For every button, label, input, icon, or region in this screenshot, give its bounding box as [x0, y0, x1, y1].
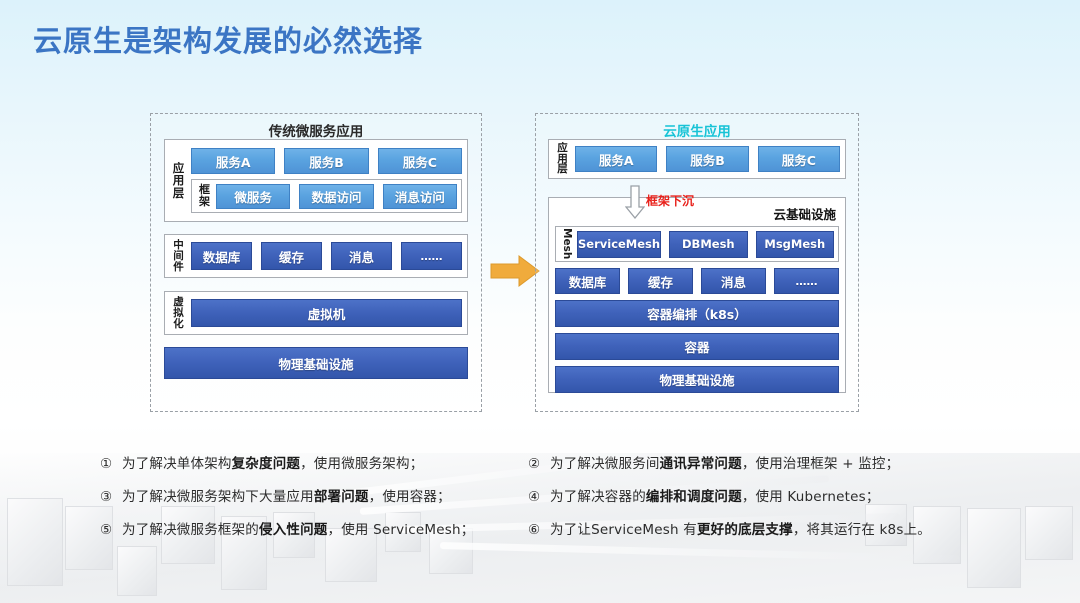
left-panel-title: 传统微服务应用 [151, 120, 481, 140]
bullet-column-right: ② 为了解决微服务间通讯异常问题，使用治理框架 + 监控； ④ 为了解决容器的编… [528, 452, 998, 551]
list-item: ③ 为了解决微服务架构下大量应用部署问题，使用容器； [100, 485, 530, 505]
left-app-layer-label: 应 用 层 [170, 162, 187, 200]
framework-sink-arrow [625, 185, 645, 219]
left-framework-message-access[interactable]: 消息访问 [383, 184, 457, 209]
bullet-text: 为了解决微服务间通讯异常问题，使用治理框架 + 监控； [550, 452, 899, 472]
msg-mesh[interactable]: MsgMesh [756, 231, 834, 258]
bullet-text: 为了解决微服务框架的侵入性问题，使用 ServiceMesh； [122, 518, 474, 538]
down-arrow-icon [625, 185, 645, 219]
left-physical-infrastructure[interactable]: 物理基础设施 [164, 347, 468, 379]
left-framework-microservice[interactable]: 微服务 [216, 184, 290, 209]
right-middleware-message[interactable]: 消息 [701, 268, 766, 294]
right-app-layer-label: 应用层 [554, 143, 571, 175]
bullet-text: 为了解决单体架构复杂度问题，使用微服务架构； [122, 452, 423, 472]
left-middleware-cache[interactable]: 缓存 [261, 242, 322, 270]
left-middleware-label: 中间件 [170, 240, 187, 273]
bullet-number: ④ [528, 489, 550, 505]
bullet-number: ③ [100, 489, 122, 505]
bullet-text: 为了解决微服务架构下大量应用部署问题，使用容器； [122, 485, 451, 505]
right-service-b[interactable]: 服务B [666, 146, 748, 172]
bullet-number: ⑥ [528, 522, 550, 538]
transition-arrow [489, 254, 541, 288]
left-virtual-machine[interactable]: 虚拟机 [191, 299, 462, 327]
right-arrow-icon [489, 254, 541, 288]
bullet-column-left: ① 为了解决单体架构复杂度问题，使用微服务架构； ③ 为了解决微服务架构下大量应… [100, 452, 530, 551]
left-virtualization-label: 虚拟化 [170, 297, 187, 330]
right-panel-title: 云原生应用 [536, 120, 858, 140]
service-mesh[interactable]: ServiceMesh [577, 231, 661, 258]
left-service-b[interactable]: 服务B [284, 148, 368, 174]
bullet-number: ⑤ [100, 522, 122, 538]
right-middleware-database[interactable]: 数据库 [555, 268, 620, 294]
mesh-label: Mesh [560, 228, 574, 259]
left-app-layer-group: 应 用 层 服务A 服务B 服务C 框架 微服务 数据访问 消息访问 [164, 139, 468, 222]
container-orchestration[interactable]: 容器编排（k8s） [555, 300, 839, 327]
right-service-a[interactable]: 服务A [575, 146, 657, 172]
list-item: ⑤ 为了解决微服务框架的侵入性问题，使用 ServiceMesh； [100, 518, 530, 538]
list-item: ⑥ 为了让ServiceMesh 有更好的底层支撑，将其运行在 k8s上。 [528, 518, 998, 538]
left-framework-data-access[interactable]: 数据访问 [299, 184, 373, 209]
list-item: ② 为了解决微服务间通讯异常问题，使用治理框架 + 监控； [528, 452, 998, 472]
left-middleware-database[interactable]: 数据库 [191, 242, 252, 270]
left-service-a[interactable]: 服务A [191, 148, 275, 174]
left-service-c[interactable]: 服务C [378, 148, 462, 174]
list-item: ① 为了解决单体架构复杂度问题，使用微服务架构； [100, 452, 530, 472]
left-virtualization-group: 虚拟化 虚拟机 [164, 291, 468, 335]
cloud-infrastructure-group: 云基础设施 Mesh ServiceMesh DBMesh MsgMesh 数据… [548, 197, 846, 393]
cloud-native-panel: 云原生应用 应用层 服务A 服务B 服务C 云基础设施 Mesh Service… [535, 113, 859, 412]
bullet-text: 为了解决容器的编排和调度问题，使用 Kubernetes； [550, 485, 880, 505]
right-middleware-more[interactable]: …… [774, 268, 839, 294]
right-service-c[interactable]: 服务C [758, 146, 840, 172]
list-item: ④ 为了解决容器的编排和调度问题，使用 Kubernetes； [528, 485, 998, 505]
bullet-text: 为了让ServiceMesh 有更好的底层支撑，将其运行在 k8s上。 [550, 518, 931, 538]
page-title: 云原生是架构发展的必然选择 [33, 18, 423, 60]
right-physical-infrastructure[interactable]: 物理基础设施 [555, 366, 839, 393]
left-middleware-group: 中间件 数据库 缓存 消息 …… [164, 234, 468, 278]
right-middleware-cache[interactable]: 缓存 [628, 268, 693, 294]
framework-sink-label: 框架下沉 [646, 192, 694, 209]
left-framework-label: 框架 [196, 184, 213, 208]
bullet-list: ① 为了解决单体架构复杂度问题，使用微服务架构； ③ 为了解决微服务架构下大量应… [0, 452, 1080, 552]
left-middleware-more[interactable]: …… [401, 242, 462, 270]
cloud-infrastructure-title: 云基础设施 [773, 204, 836, 223]
deco-cube [118, 547, 156, 595]
bullet-number: ① [100, 456, 122, 472]
left-middleware-message[interactable]: 消息 [331, 242, 392, 270]
bullet-number: ② [528, 456, 550, 472]
db-mesh[interactable]: DBMesh [669, 231, 747, 258]
container[interactable]: 容器 [555, 333, 839, 360]
right-app-layer-group: 应用层 服务A 服务B 服务C [548, 139, 846, 179]
traditional-microservice-panel: 传统微服务应用 应 用 层 服务A 服务B 服务C 框架 微服务 数据访问 消息… [150, 113, 482, 412]
